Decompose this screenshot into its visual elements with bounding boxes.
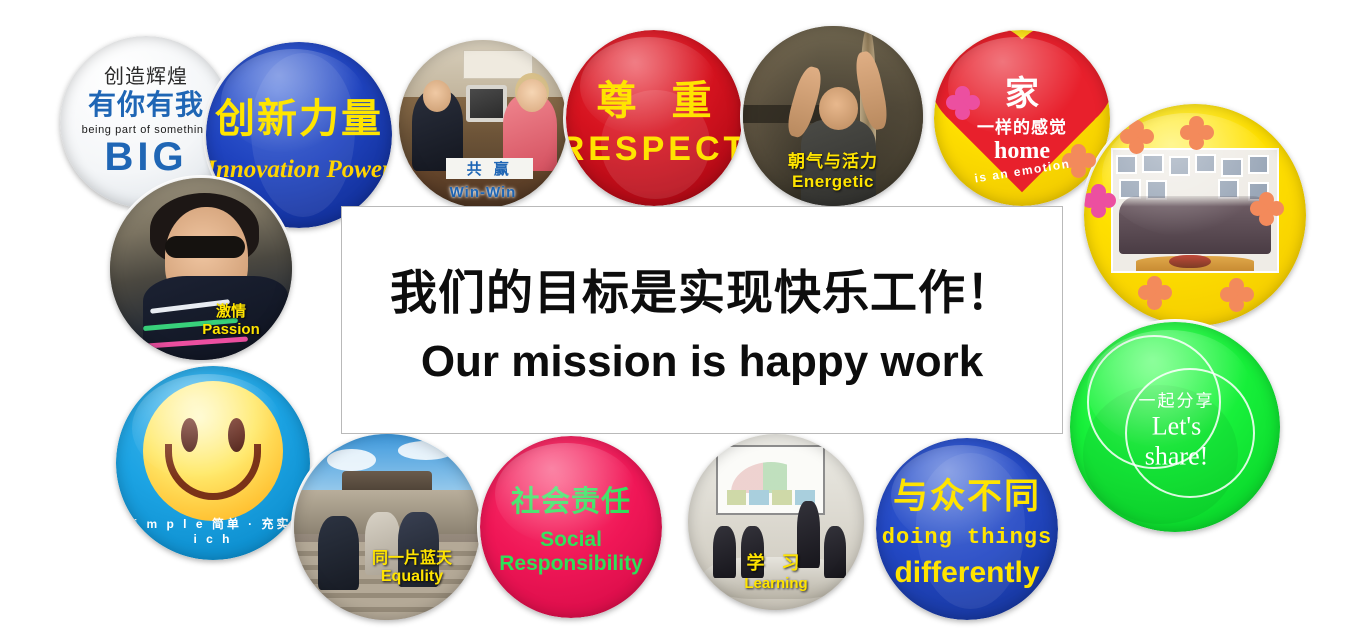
badge-winwin-en: Win-Win xyxy=(399,184,567,201)
badge-respect-en: RESPECT xyxy=(566,130,742,169)
badge-passion-en: Passion xyxy=(202,321,260,338)
badge-big-line1: 创造辉煌 xyxy=(104,66,188,88)
badge-different-cn: 与众不同 xyxy=(893,468,1041,519)
mission-statement-cn: 我们的目标是实现快乐工作！ xyxy=(390,254,1014,323)
badge-home-cn-big: 家 xyxy=(1005,77,1039,111)
badge-social-responsibility[interactable]: 社会责任 Social Responsibility xyxy=(480,436,662,618)
badge-different-en-line1: doing things xyxy=(882,525,1052,550)
badge-energetic-cn: 朝气与活力 xyxy=(788,147,878,172)
badge-passion[interactable]: 激情 Passion xyxy=(110,178,292,360)
badge-learning-en: Learning xyxy=(744,575,807,592)
badge-big-line3: being part of something xyxy=(82,124,211,136)
badge-win-win[interactable]: 共 赢 Win-Win xyxy=(399,40,567,208)
flower-icon xyxy=(1120,120,1154,154)
badge-social-cn: 社会责任 xyxy=(511,478,631,520)
badge-respect[interactable]: 尊 重 RESPECT xyxy=(566,30,742,206)
badge-team-photo[interactable] xyxy=(1084,104,1306,326)
badge-big-line4: BIG xyxy=(104,136,187,178)
badge-innovation-cn: 创新力量 xyxy=(215,86,383,144)
badge-big-line2: 有你有我 xyxy=(88,88,204,122)
badge-different-en-line2: differently xyxy=(894,556,1039,590)
badge-lets-share[interactable]: 一起分享 Let's share! xyxy=(1070,322,1280,532)
badge-innovation-en: Innovation Power xyxy=(206,156,391,184)
badge-energetic[interactable]: 朝气与活力 Energetic xyxy=(743,26,923,206)
badge-share-cn: 一起分享 xyxy=(1139,386,1215,411)
badge-energetic-en: Energetic xyxy=(792,172,874,192)
flower-icon xyxy=(1250,192,1284,226)
badge-social-en-line1: Social xyxy=(540,528,602,552)
badge-equality[interactable]: 同一片蓝天 Equality xyxy=(294,434,480,620)
badge-equality-cn: 同一片蓝天 xyxy=(372,544,452,568)
badge-home-is-an-emotion[interactable]: 家 一样的感觉 home is an emotion xyxy=(934,30,1110,206)
badge-simple-rich-smiley[interactable]: S i m p l e 简单 · 充实 R i c h xyxy=(116,366,310,560)
badge-smiley-arc-text: S i m p l e 简单 · 充实 R i c h xyxy=(116,515,310,546)
flower-icon xyxy=(1180,116,1214,150)
badge-social-en-line2: Responsibility xyxy=(499,552,643,576)
badge-passion-cn: 激情 xyxy=(216,300,246,321)
badge-doing-things-differently[interactable]: 与众不同 doing things differently xyxy=(876,438,1058,620)
poster-canvas: 创造辉煌 有你有我 being part of something BIG 创新… xyxy=(0,0,1366,635)
badge-winwin-cn: 共 赢 xyxy=(467,158,513,179)
mission-banner: 我们的目标是实现快乐工作！ Our mission is happy work xyxy=(341,206,1063,434)
badge-share-en-line1: Let's xyxy=(1139,411,1215,441)
flower-icon xyxy=(1138,276,1172,310)
badge-learning[interactable]: 学 习 Learning xyxy=(688,434,864,610)
smiley-face-icon xyxy=(143,381,283,521)
badge-home-cn-small: 一样的感觉 xyxy=(977,113,1067,138)
badge-equality-en: Equality xyxy=(381,568,443,586)
badge-respect-cn: 尊 重 xyxy=(584,68,723,126)
badge-learning-cn: 学 习 xyxy=(746,549,805,575)
flower-icon xyxy=(1220,278,1254,312)
mission-statement-en: Our mission is happy work xyxy=(421,337,983,387)
badge-share-en-line2: share! xyxy=(1139,441,1215,471)
handshake-photo: 共 赢 Win-Win xyxy=(399,40,567,208)
